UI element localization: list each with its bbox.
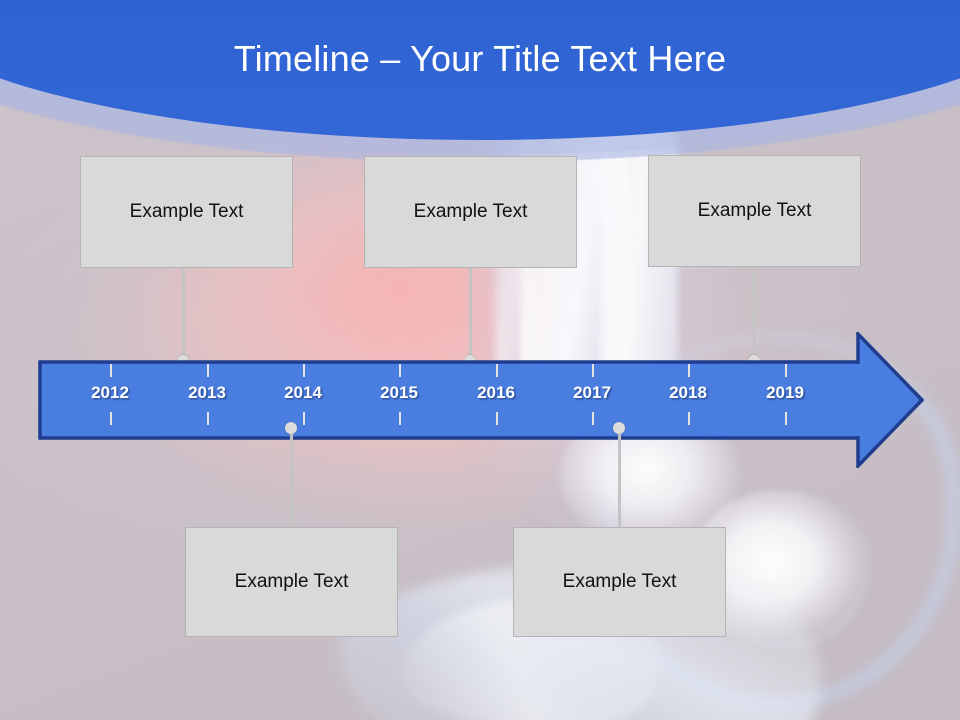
year-label-2014[interactable]: 2014	[284, 383, 322, 403]
timeline-tick-top	[592, 364, 594, 377]
timeline-tick-bottom	[207, 412, 209, 425]
callout-box-bottom-0[interactable]: Example Text	[185, 527, 398, 637]
callout-text: Example Text	[414, 201, 528, 223]
timeline-tick-top	[688, 364, 690, 377]
timeline-node-dot-bottom-1[interactable]	[613, 422, 625, 434]
timeline-tick-top	[110, 364, 112, 377]
year-label-2018[interactable]: 2018	[669, 383, 707, 403]
timeline-tick-bottom	[592, 412, 594, 425]
year-label-2016[interactable]: 2016	[477, 383, 515, 403]
timeline-tick-bottom	[496, 412, 498, 425]
year-label-2015[interactable]: 2015	[380, 383, 418, 403]
year-label-2012[interactable]: 2012	[91, 383, 129, 403]
timeline-tick-bottom	[399, 412, 401, 425]
timeline-tick-top	[303, 364, 305, 377]
callout-box-top-2[interactable]: Example Text	[648, 155, 861, 267]
callout-box-top-0[interactable]: Example Text	[80, 156, 293, 268]
year-label-2017[interactable]: 2017	[573, 383, 611, 403]
timeline-tick-bottom	[110, 412, 112, 425]
callout-connector-bottom-0	[290, 428, 293, 527]
timeline-tick-top	[496, 364, 498, 377]
year-label-2019[interactable]: 2019	[766, 383, 804, 403]
year-label-2013[interactable]: 2013	[188, 383, 226, 403]
callout-text: Example Text	[130, 201, 244, 223]
timeline-slide: Timeline – Your Title Text Here 20122013…	[0, 0, 960, 720]
callout-text: Example Text	[698, 200, 812, 222]
callout-text: Example Text	[563, 571, 677, 593]
timeline-tick-bottom	[303, 412, 305, 425]
timeline-tick-top	[207, 364, 209, 377]
timeline-tick-top	[399, 364, 401, 377]
callout-box-bottom-1[interactable]: Example Text	[513, 527, 726, 637]
timeline-tick-top	[785, 364, 787, 377]
callout-box-top-1[interactable]: Example Text	[364, 156, 577, 268]
timeline-node-dot-bottom-0[interactable]	[285, 422, 297, 434]
timeline-tick-bottom	[688, 412, 690, 425]
callout-connector-bottom-1	[618, 428, 621, 527]
page-title: Timeline – Your Title Text Here	[0, 38, 960, 80]
timeline-tick-bottom	[785, 412, 787, 425]
callout-text: Example Text	[235, 571, 349, 593]
